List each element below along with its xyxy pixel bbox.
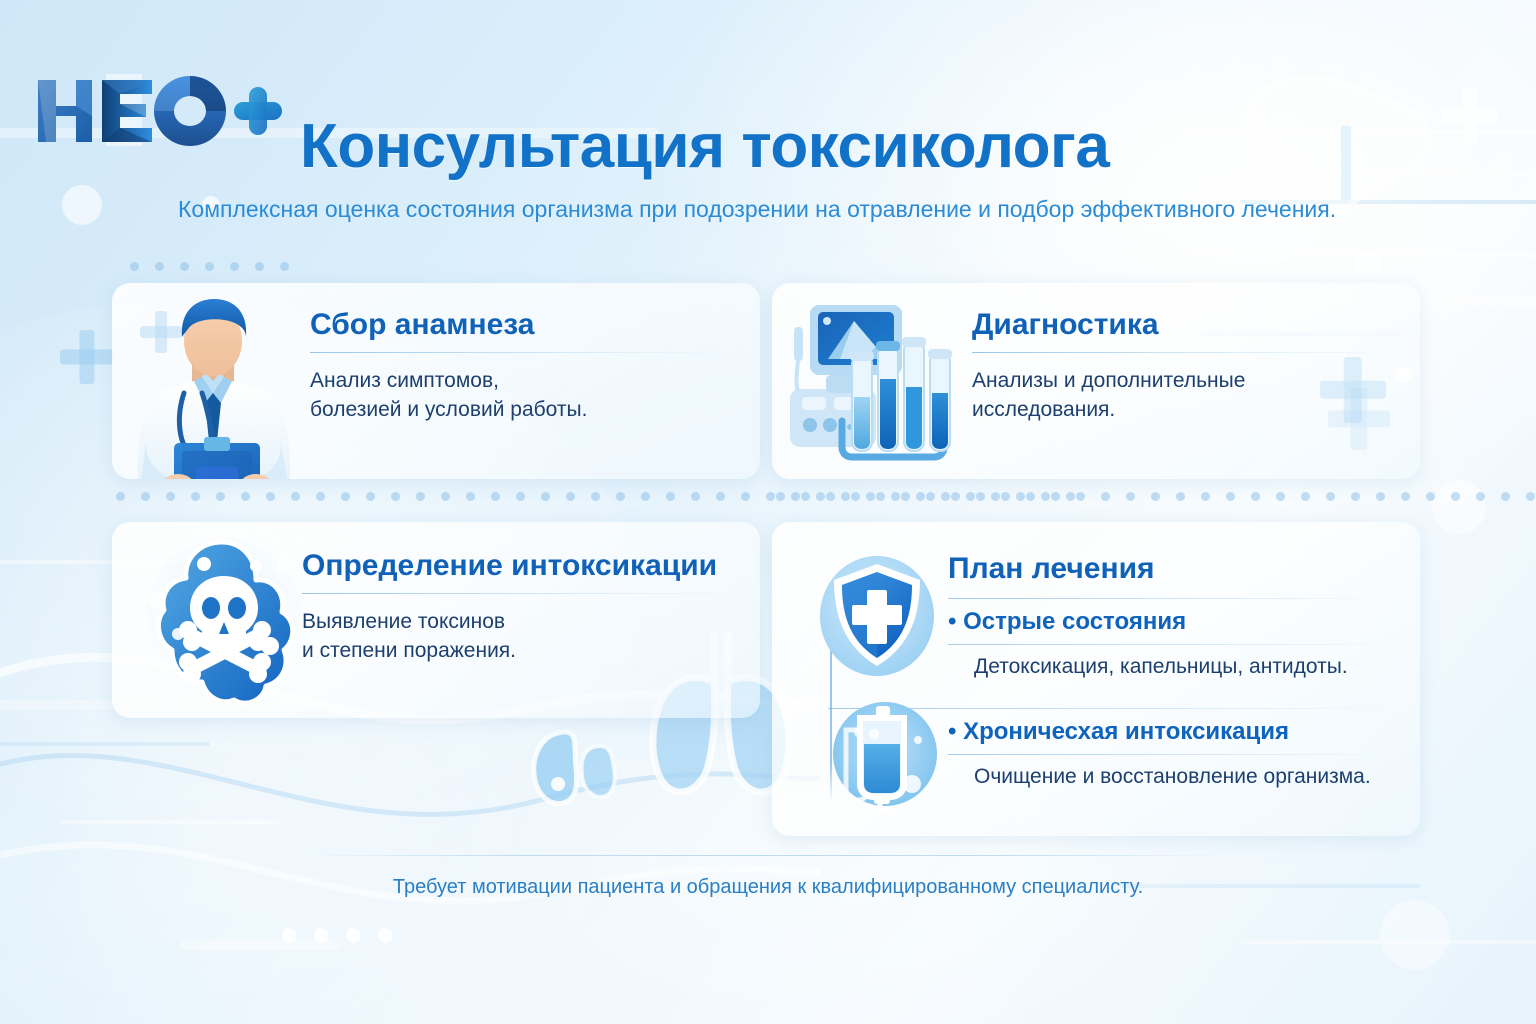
card-anamnesis-text-line1: Анализ симптомов, [310,366,738,396]
card-intoxication-body: Определение интоксикации Выявление токси… [302,550,744,666]
decor-band [1320,172,1536,176]
card-intoxication-title: Определение интоксикации [302,550,744,582]
divider [972,352,1398,353]
card-anamnesis-text-line2: болезией и условий работы. [310,395,738,425]
card-treatment-plan[interactable]: План лечения [772,522,1420,836]
decor-band [0,742,210,746]
plan-item-chronic-text: Очищение и восстановление организма. [974,765,1394,789]
bullet-marker: • [948,608,956,635]
card-treatment-plan-title: План лечения [948,552,1155,586]
liver-icon [1228,60,1448,260]
decor-dot-row [130,262,289,271]
footer-note: Требует мотивации пациента и обращения к… [0,876,1536,899]
divider [310,352,738,353]
decor-dot-row [776,492,1536,501]
page-subtitle: Комплексная оценка состояния организма п… [178,196,1418,223]
card-intoxication[interactable]: Определение интоксикации Выявление токси… [112,522,760,718]
decor-circle [1396,367,1412,383]
infographic-canvas: Консультация токсиколога Комплексная оце… [0,0,1536,1024]
iv-drip-icon [830,698,940,816]
card-diagnostics-title: Диагностика [972,309,1398,341]
card-intoxication-text-line1: Выявление токсинов [302,607,744,637]
plan-item-chronic: • Хроничесхая интоксикация Очищение и во… [948,718,1394,789]
card-diagnostics-text-line2: исследования. [972,395,1398,425]
decor-circle [1380,900,1450,970]
decor-circle [62,185,102,225]
brand-logo[interactable] [34,72,284,148]
decor-band [1180,130,1536,134]
card-diagnostics-text-line1: Анализы и дополнительные [972,366,1398,396]
card-diagnostics-body: Диагностика Анализы и дополнительные исс… [972,309,1398,425]
card-anamnesis-title: Сбор анамнеза [310,309,738,341]
decor-band [1240,940,1536,944]
decor-circle [1432,480,1486,534]
plan-item-acute: • Острые состояния Детоксикация, капельн… [948,608,1394,679]
decor-dot-row [116,492,1075,501]
plan-item-acute-heading: • Острые состояния [948,608,1394,636]
card-anamnesis[interactable]: Сбор анамнеза Анализ симптомов, болезией… [112,283,760,479]
decor-dot-row [282,928,393,943]
card-intoxication-text-line2: и степени поражения. [302,636,744,666]
card-diagnostics[interactable]: Диагностика Анализы и дополнительные исс… [772,283,1420,479]
decor-band [1190,253,1536,257]
kidney-icon [522,722,652,812]
bullet-marker: • [948,718,956,745]
divider [948,644,1394,645]
plus-cross-icon [60,330,114,384]
divider [948,598,1392,599]
decor-band [180,940,340,950]
plan-item-acute-text: Детоксикация, капельницы, антидоты. [974,655,1394,679]
decor-circle [1356,250,1382,276]
shield-cross-icon [812,550,942,680]
plan-item-chronic-heading: • Хроничесхая интоксикация [948,718,1394,746]
divider [302,593,744,594]
card-anamnesis-body: Сбор анамнеза Анализ симптомов, болезией… [310,309,738,425]
plus-cross-icon [1442,88,1498,144]
footer-divider [300,855,1230,856]
page-title: Консультация токсиколога [300,116,1109,178]
divider [948,754,1394,755]
decor-band [60,820,280,824]
